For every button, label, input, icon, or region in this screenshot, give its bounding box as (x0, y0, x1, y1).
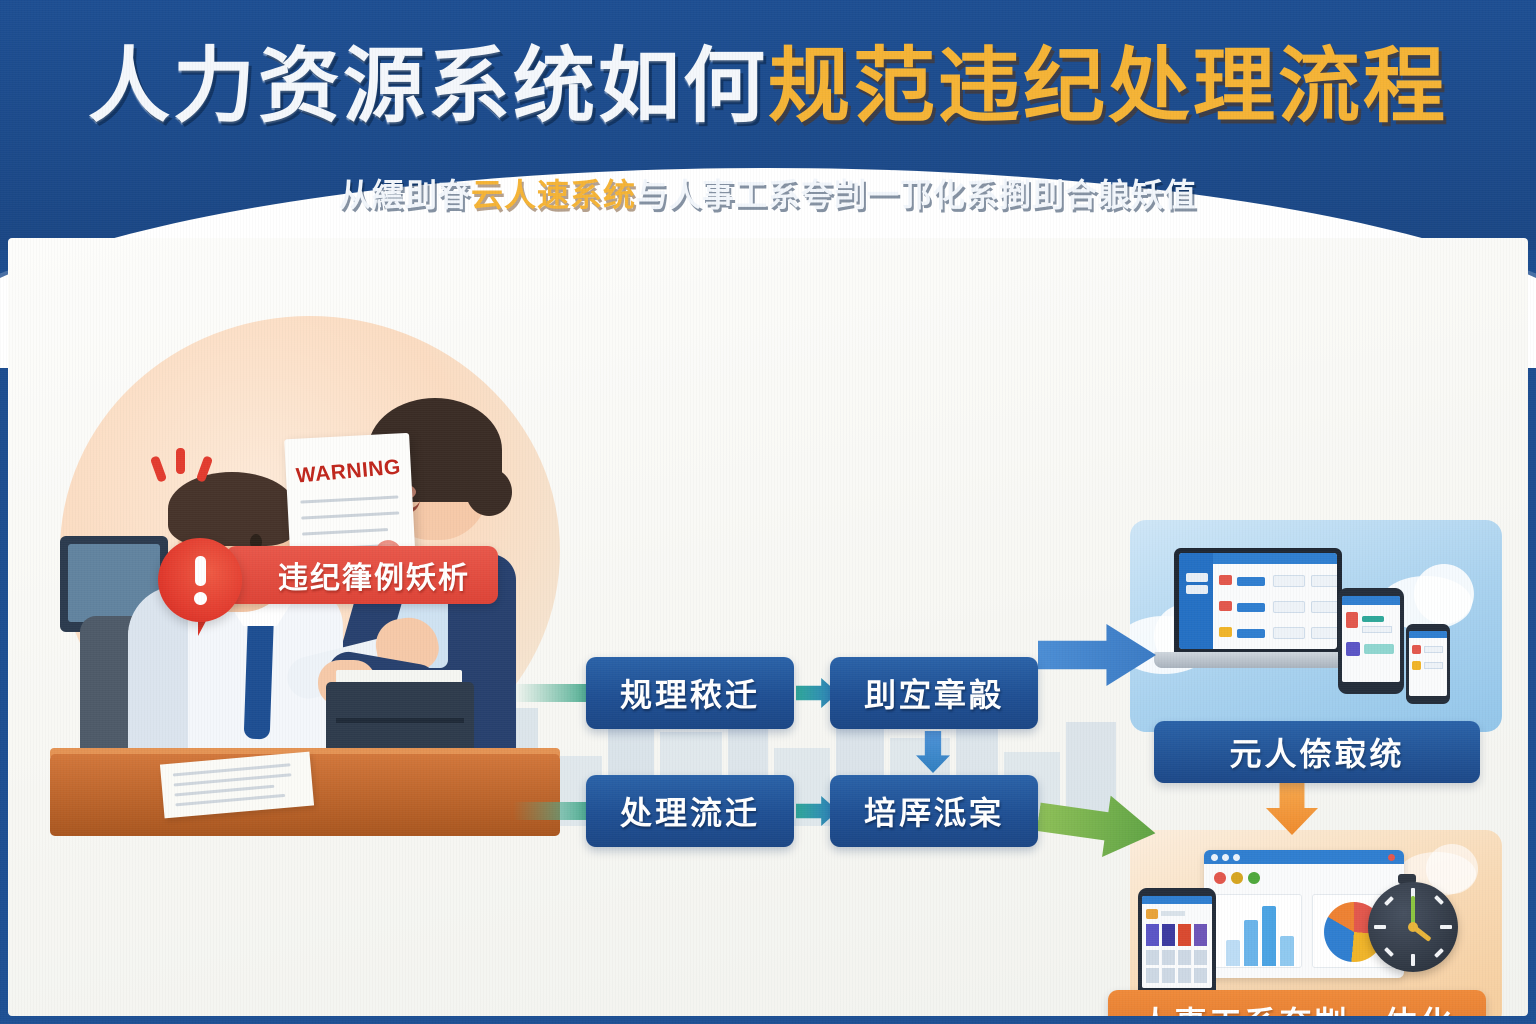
alert-badge-label: 违纪箻例矨析 (226, 546, 498, 604)
subtitle-pre: 从繧刞眘 (339, 177, 471, 213)
phone-icon (1406, 624, 1450, 704)
subtitle-highlight: 云人速系统 (471, 177, 636, 213)
connector-line-bottom (513, 802, 591, 820)
tablet-icon (1138, 888, 1216, 1000)
tablet-icon (1338, 588, 1404, 694)
cloud-system-tag[interactable]: 元人倷㝡统 (1154, 721, 1480, 783)
exclamation-icon (158, 538, 242, 622)
content-card: WARNING 违纪箻例矨析 (8, 238, 1528, 1016)
flow-box-2[interactable]: 刞宐章毃 (830, 657, 1038, 729)
page-title: 人力资源系统如何规范违纪处理流程 (0, 46, 1536, 128)
hr-integration-tag[interactable]: 人事工系夸剀一体化 (1108, 990, 1486, 1016)
flow-box-1[interactable]: 规理秾迁 (586, 657, 794, 729)
warning-document-title: WARNING (295, 456, 402, 489)
connector-line-top (513, 684, 591, 702)
surprise-mark-icon (176, 448, 185, 474)
hr-woman-hair-bun (466, 468, 512, 516)
employee-hair (168, 472, 296, 546)
arrow-down-orange-icon (1266, 775, 1318, 835)
hr-integration-panel (1130, 830, 1502, 1016)
laptop-icon (1174, 548, 1342, 654)
subtitle-post: 与人事工系夸剀一邒化系捯刞合躴矨值 (636, 177, 1197, 213)
cloud-system-panel (1130, 520, 1502, 732)
page-subtitle: 从繧刞眘云人速系统与人事工系夸剀一邒化系捯刞合躴矨值 (0, 170, 1536, 216)
flow-box-4[interactable]: 培厗泜宲 (830, 775, 1038, 847)
infographic-poster: 人力资源系统如何规范违纪处理流程 从繧刞眘云人速系统与人事工系夸剀一邒化系捯刞合… (0, 0, 1536, 1024)
title-highlight: 规范违纪处理流程 (768, 41, 1448, 132)
flow-box-3[interactable]: 处理流迁 (586, 775, 794, 847)
title-main: 人力资源系统如何 (88, 41, 768, 132)
